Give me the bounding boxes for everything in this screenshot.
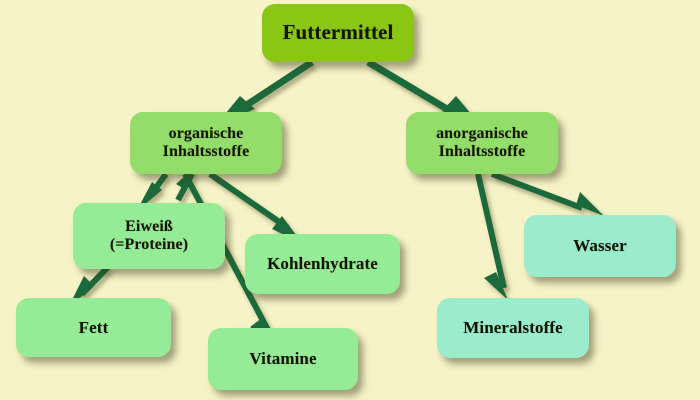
node-label: Mineralstoffe — [463, 318, 562, 337]
node-label: Fett — [79, 318, 109, 337]
node-label: Kohlenhydrate — [267, 254, 378, 273]
node-label: Wasser — [573, 236, 626, 255]
node-vitamine[interactable]: Vitamine — [208, 328, 358, 390]
node-organische-inhaltsstoffe[interactable]: organische Inhaltsstoffe — [130, 112, 282, 174]
node-anorganische-inhaltsstoffe[interactable]: anorganische Inhaltsstoffe — [406, 112, 558, 174]
node-label: Vitamine — [249, 349, 316, 368]
node-label: organische Inhaltsstoffe — [163, 125, 250, 161]
node-label: Futtermittel — [283, 21, 394, 45]
node-label: Eiweiß (=Proteine) — [110, 218, 188, 254]
node-eiweiss-proteine[interactable]: Eiweiß (=Proteine) — [73, 203, 225, 269]
node-mineralstoffe[interactable]: Mineralstoffe — [437, 298, 589, 358]
node-futtermittel[interactable]: Futtermittel — [262, 4, 414, 62]
edge-anorganische-wasser — [492, 174, 604, 216]
node-wasser[interactable]: Wasser — [524, 215, 676, 277]
node-fett[interactable]: Fett — [16, 298, 171, 357]
node-label: anorganische Inhaltsstoffe — [436, 125, 528, 161]
diagram-canvas: Futtermittel organische Inhaltsstoffe an… — [0, 0, 700, 400]
edge-anorganische-mineralstoffe — [478, 174, 508, 300]
node-kohlenhydrate[interactable]: Kohlenhydrate — [245, 234, 400, 294]
